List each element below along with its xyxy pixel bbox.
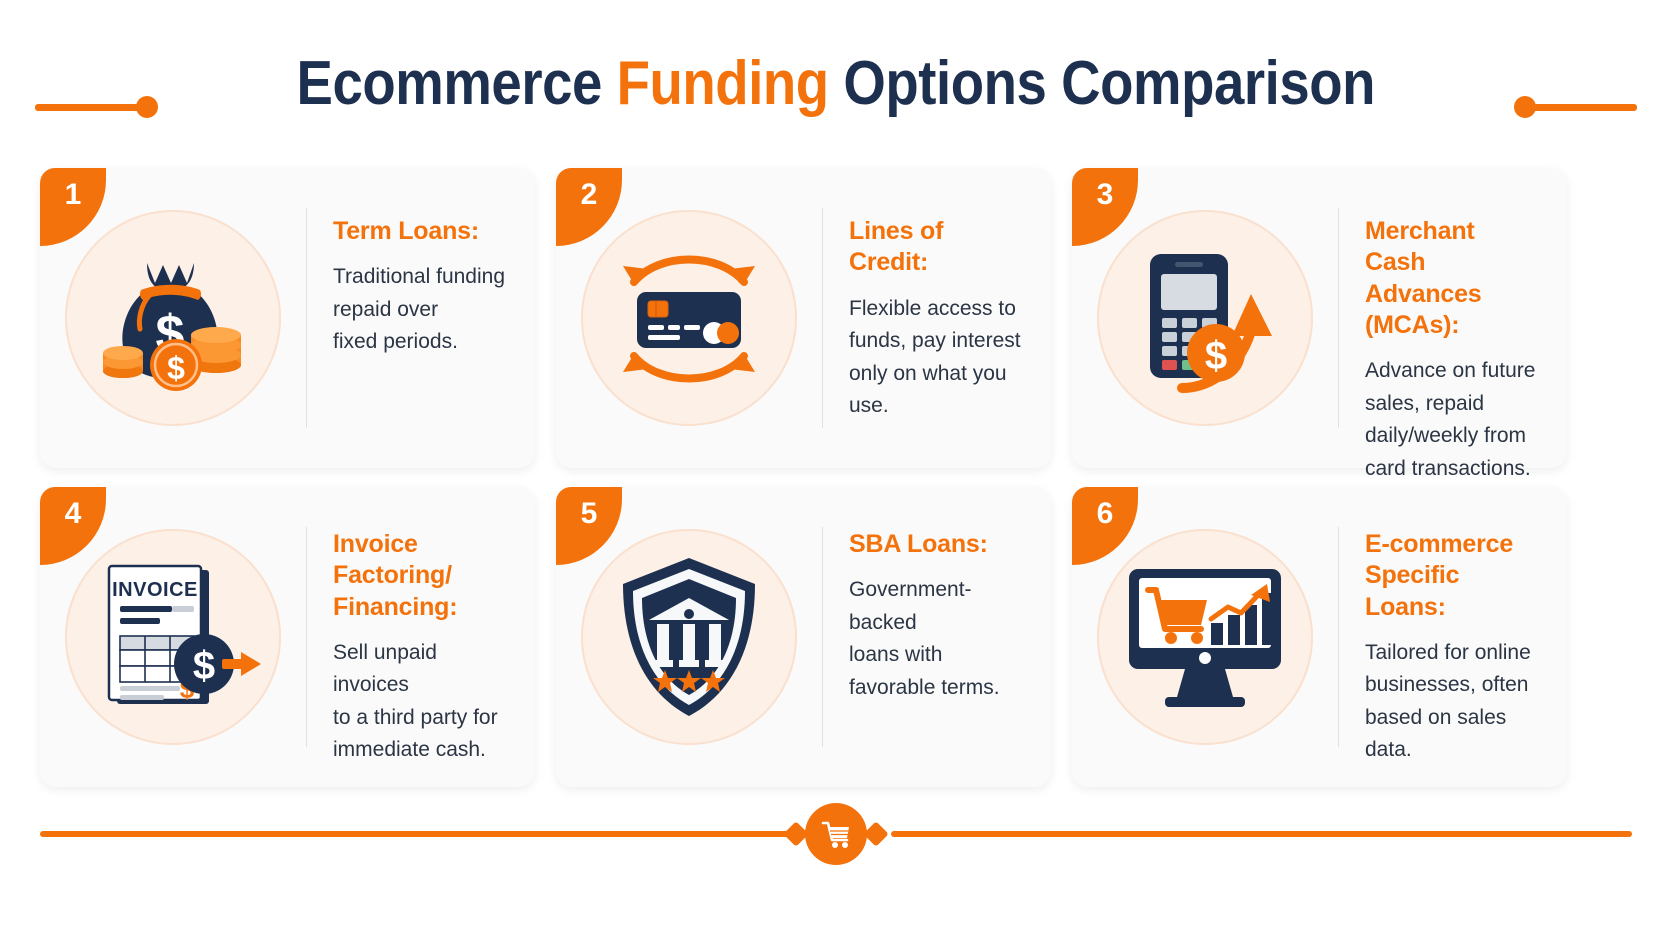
card-title: Term Loans: [333, 216, 509, 247]
icon-circle: INVOICE [65, 529, 281, 745]
page-title: Ecommerce Funding Options Comparison [297, 48, 1376, 119]
icon-circle [581, 529, 797, 745]
icon-circle [1097, 529, 1313, 745]
rule-line-icon [35, 104, 140, 111]
card-text-area: Term Loans: Traditional funding repaid o… [307, 168, 535, 468]
svg-text:$: $ [1205, 334, 1227, 378]
page-title-part1: Ecommerce [297, 49, 617, 118]
funding-card-invoice-factoring[interactable]: 4 INVOICE [40, 487, 535, 787]
monitor-cart-growth-chart-icon [1115, 557, 1295, 717]
footer [0, 803, 1672, 865]
card-title: Lines of Credit: [849, 216, 1025, 279]
shopping-cart-icon [819, 817, 853, 851]
footer-line-left [40, 831, 817, 837]
card-title: SBA Loans: [849, 529, 1025, 560]
icon-circle: $ [65, 210, 281, 426]
icon-circle [581, 210, 797, 426]
page-title-accent: Funding [617, 49, 829, 118]
rule-dot-icon [136, 96, 158, 118]
icon-circle: $ [1097, 210, 1313, 426]
card-text-area: Lines of Credit: Flexible access to fund… [823, 168, 1051, 468]
card-body: Flexible access to funds, pay interest o… [849, 293, 1025, 423]
shield-bank-stars-icon [609, 552, 769, 722]
funding-card-merchant-cash-advances[interactable]: 3 [1072, 168, 1567, 468]
credit-card-revolving-arrows-icon [604, 238, 774, 398]
card-text-area: Invoice Factoring/ Financing: Sell unpai… [307, 487, 535, 787]
svg-text:$: $ [193, 644, 215, 688]
header: Ecommerce Funding Options Comparison [0, 24, 1672, 142]
card-body: Sell unpaid invoices to a third party fo… [333, 637, 509, 767]
card-title: E-commerce Specific Loans: [1365, 529, 1541, 623]
header-rule-left [35, 96, 158, 118]
card-title: Invoice Factoring/ Financing: [333, 529, 509, 623]
funding-card-term-loans[interactable]: 1 $ [40, 168, 535, 468]
card-body: Traditional funding repaid over fixed pe… [333, 261, 509, 359]
page-title-part2: Options Comparison [829, 49, 1375, 118]
card-body: Advance on future sales, repaid daily/we… [1365, 355, 1541, 485]
funding-card-sba-loans[interactable]: 5 [556, 487, 1051, 787]
header-rule-right [1514, 96, 1637, 118]
footer-cart-badge [805, 803, 867, 865]
card-body: Tailored for online businesses, often ba… [1365, 637, 1541, 767]
infographic-page: Ecommerce Funding Options Comparison 1 [0, 0, 1672, 941]
invoice-dollar-arrow-icon: INVOICE [83, 552, 263, 722]
card-text-area: SBA Loans: Government-backed loans with … [823, 487, 1051, 787]
pos-terminal-dollar-growth-icon: $ [1120, 236, 1290, 401]
funding-card-ecommerce-specific-loans[interactable]: 6 [1072, 487, 1567, 787]
funding-card-lines-of-credit[interactable]: 2 [556, 168, 1051, 468]
card-body: Government-backed loans with favorable t… [849, 574, 1025, 704]
card-text-area: Merchant Cash Advances (MCAs): Advance o… [1339, 168, 1567, 468]
footer-cap-right-icon [863, 821, 888, 846]
card-title: Merchant Cash Advances (MCAs): [1365, 216, 1541, 341]
rule-line-icon [1532, 104, 1637, 111]
card-text-area: E-commerce Specific Loans: Tailored for … [1339, 487, 1567, 787]
svg-text:$: $ [167, 350, 185, 386]
money-bag-coins-icon: $ [93, 243, 253, 393]
footer-line-right [891, 831, 1632, 837]
funding-options-grid: 1 $ [40, 168, 1632, 787]
svg-text:INVOICE: INVOICE [112, 579, 198, 601]
